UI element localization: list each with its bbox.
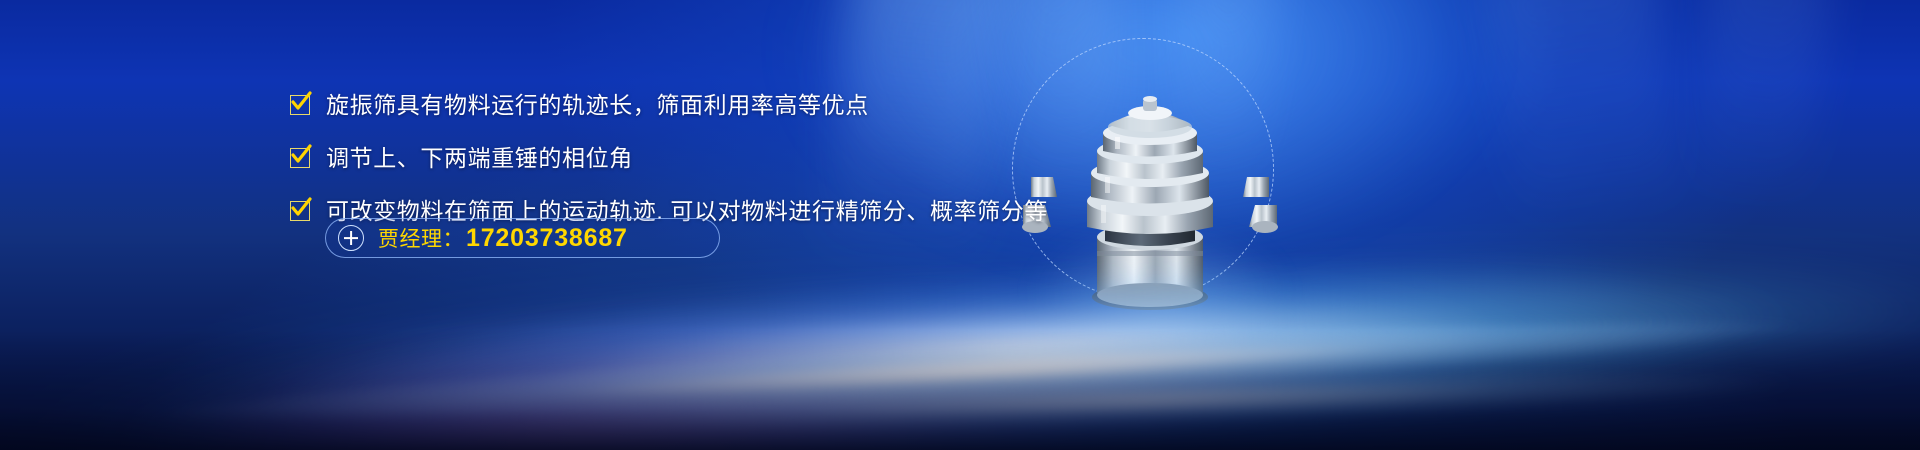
list-item-label: 调节上、下两端重锤的相位角 <box>326 147 633 170</box>
list-item: 旋振筛具有物料运行的轨迹长，筛面利用率高等优点 <box>290 84 1070 126</box>
bottom-vignette <box>0 330 1920 450</box>
light-shaft <box>1482 0 1688 241</box>
contact-name: 贾经理： <box>378 223 464 253</box>
list-item: 调节上、下两端重锤的相位角 <box>290 137 1070 179</box>
check-icon <box>290 95 310 115</box>
check-icon <box>290 148 310 168</box>
check-icon <box>290 201 310 221</box>
plus-circle-icon <box>338 225 364 251</box>
promo-banner: 旋振筛具有物料运行的轨迹长，筛面利用率高等优点 调节上、下两端重锤的相位角 可改… <box>0 0 1920 450</box>
light-shaft <box>1685 0 1835 216</box>
contact-phone[interactable]: 17203738687 <box>466 224 628 253</box>
contact-pill[interactable]: 贾经理： 17203738687 <box>325 218 720 258</box>
list-item-label: 旋振筛具有物料运行的轨迹长，筛面利用率高等优点 <box>326 94 869 117</box>
